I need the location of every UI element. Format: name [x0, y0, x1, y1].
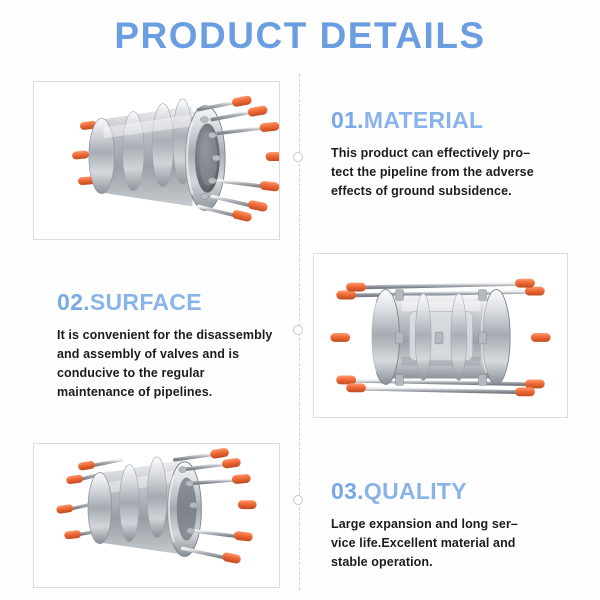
section-quality-number: 03. [331, 478, 364, 504]
section-quality-line-3: stable operation. [331, 553, 581, 572]
section-surface-number: 02. [57, 289, 90, 315]
section-surface: 02.SURFACE It is convenient for the disa… [57, 288, 307, 402]
section-material-line-1: This product can effectively pro– [331, 144, 581, 163]
timeline-marker-3 [293, 495, 303, 505]
product-photo-2 [313, 253, 568, 418]
section-surface-line-3: conducive to the regular [57, 364, 307, 383]
product-photo-3 [33, 443, 280, 588]
product-details-page: PRODUCT DETAILS [0, 0, 600, 600]
section-quality-heading: 03.QUALITY [331, 477, 581, 505]
section-material-number: 01. [331, 107, 364, 133]
section-quality: 03.QUALITY Large expansion and long ser–… [331, 477, 581, 572]
timeline-marker-1 [293, 152, 303, 162]
section-material-line-3: effects of ground subsidence. [331, 182, 581, 201]
section-surface-line-4: maintenance of pipelines. [57, 383, 307, 402]
section-material-body: This product can effectively pro– tect t… [331, 144, 581, 201]
section-surface-line-1: It is convenient for the disassembly [57, 326, 307, 345]
section-surface-title: SURFACE [90, 289, 202, 315]
product-photo-1 [33, 81, 280, 240]
section-material-heading: 01.MATERIAL [331, 106, 581, 134]
section-quality-title: QUALITY [364, 478, 467, 504]
section-quality-line-2: vice life.Excellent material and [331, 534, 581, 553]
section-material: 01.MATERIAL This product can effectively… [331, 106, 581, 201]
section-material-title: MATERIAL [364, 107, 484, 133]
section-surface-line-2: and assembly of valves and is [57, 345, 307, 364]
section-surface-body: It is convenient for the disassembly and… [57, 326, 307, 402]
section-surface-heading: 02.SURFACE [57, 288, 307, 316]
section-quality-body: Large expansion and long ser– vice life.… [331, 515, 581, 572]
page-title: PRODUCT DETAILS [0, 14, 600, 58]
section-material-line-2: tect the pipeline from the adverse [331, 163, 581, 182]
section-quality-line-1: Large expansion and long ser– [331, 515, 581, 534]
